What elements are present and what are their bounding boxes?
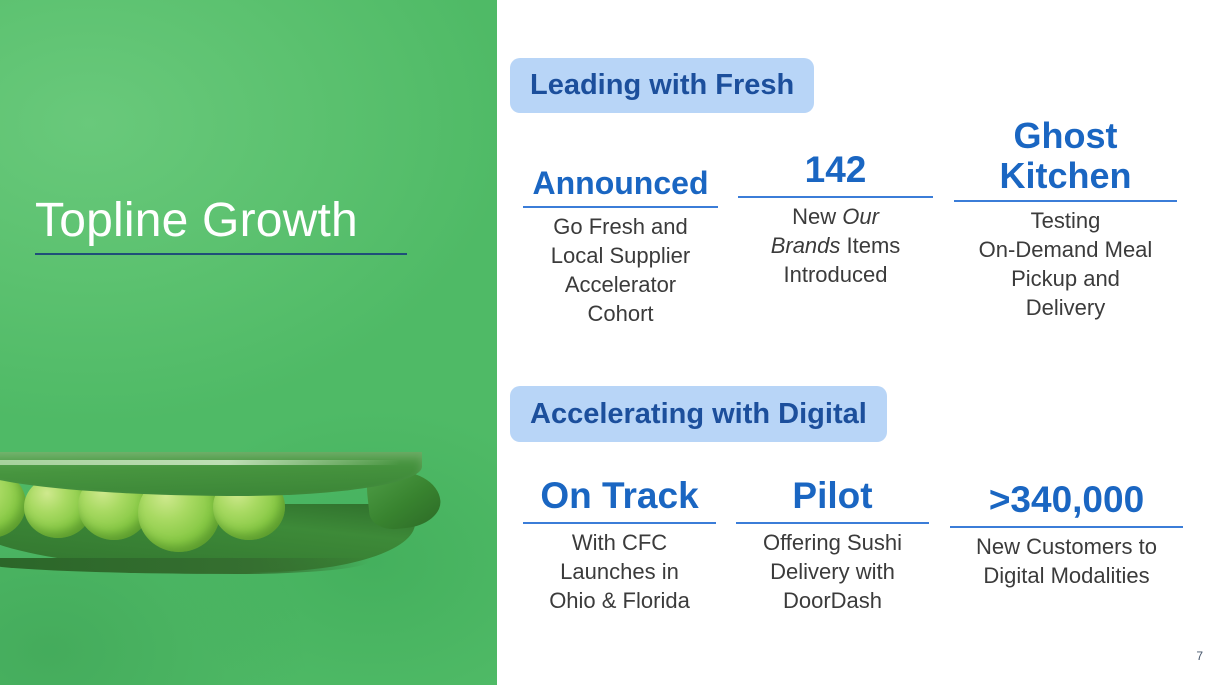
- stat-description: Offering Sushi Delivery with DoorDash: [732, 526, 933, 615]
- stat-value: Pilot: [732, 476, 933, 517]
- stat-value: Ghost Kitchen: [949, 116, 1182, 195]
- stat-divider: [736, 522, 929, 524]
- stat-divider: [523, 522, 716, 524]
- stat-card-on-track: On Track With CFC Launches in Ohio & Flo…: [513, 476, 726, 615]
- stat-divider: [523, 206, 718, 208]
- slide-title-block: Topline Growth: [35, 196, 413, 255]
- title-photo-panel: Topline Growth: [0, 0, 497, 685]
- stat-value: 142: [734, 150, 937, 191]
- stat-card-142: 142 New Our Brands Items Introduced: [728, 116, 943, 289]
- stat-value: Announced: [519, 166, 722, 201]
- stat-value: On Track: [519, 476, 720, 517]
- title-underline: [35, 253, 407, 255]
- stat-card-340000: >340,000 New Customers to Digital Modali…: [939, 476, 1194, 590]
- page-title: Topline Growth: [35, 196, 413, 247]
- section-heading-accelerating-with-digital: Accelerating with Digital: [510, 386, 887, 442]
- stat-card-announced: Announced Go Fresh and Local Supplier Ac…: [513, 116, 728, 328]
- pea-pod-illustration: [0, 452, 440, 592]
- stat-divider: [738, 196, 933, 198]
- stat-row-fresh: Announced Go Fresh and Local Supplier Ac…: [513, 116, 1225, 328]
- stat-row-digital: On Track With CFC Launches in Ohio & Flo…: [513, 476, 1225, 615]
- stat-description-part: New: [792, 204, 842, 229]
- section-heading-leading-with-fresh: Leading with Fresh: [510, 58, 814, 113]
- stat-description: Go Fresh and Local Supplier Accelerator …: [519, 210, 722, 328]
- page-number: 7: [1196, 649, 1203, 663]
- stat-divider: [950, 526, 1183, 528]
- stat-card-pilot: Pilot Offering Sushi Delivery with DoorD…: [726, 476, 939, 615]
- stat-description: New Customers to Digital Modalities: [945, 530, 1188, 590]
- stat-description: With CFC Launches in Ohio & Florida: [519, 526, 720, 615]
- stat-value: >340,000: [945, 480, 1188, 521]
- stat-description: New Our Brands Items Introduced: [734, 200, 937, 289]
- stat-description: Testing On-Demand Meal Pickup and Delive…: [949, 204, 1182, 322]
- pod-top-highlight: [0, 460, 400, 465]
- stat-card-ghost-kitchen: Ghost Kitchen Testing On-Demand Meal Pic…: [943, 116, 1188, 322]
- content-panel: Leading with Fresh Announced Go Fresh an…: [497, 0, 1225, 685]
- stat-divider: [954, 200, 1178, 202]
- pod-inner-shadow: [0, 558, 370, 574]
